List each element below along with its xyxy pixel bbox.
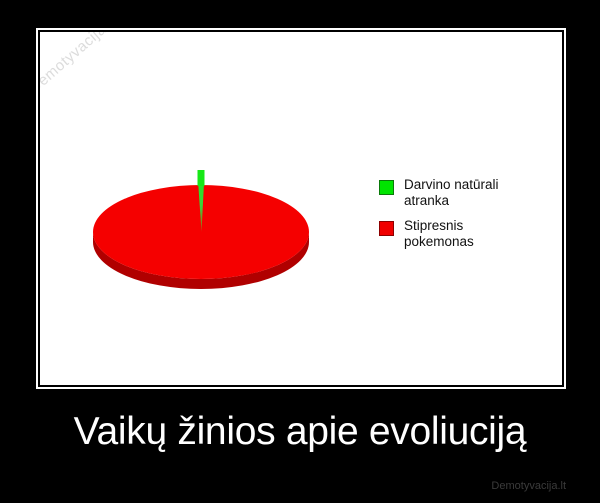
pie-slice-green-cap: [198, 170, 205, 186]
site-credit: Demotyvacija.lt: [491, 480, 566, 492]
pie-chart: Darvino natūrali atranka Stipresnis poke…: [40, 32, 562, 385]
poster-caption: Vaikų žinios apie evoliuciją: [0, 404, 600, 460]
chart-panel: Demotyvacija.lt Darvino natūrali atran: [40, 32, 562, 385]
legend-label-stipresnis: Stipresnis pokemonas: [404, 218, 474, 250]
legend-item-darvino[interactable]: Darvino natūrali atranka: [379, 177, 554, 209]
legend-swatch-red-icon: [379, 221, 394, 236]
pie-chart-svg: [70, 110, 400, 290]
legend-item-stipresnis[interactable]: Stipresnis pokemonas: [379, 218, 554, 250]
legend-label-darvino: Darvino natūrali atranka: [404, 177, 499, 209]
chart-legend: Darvino natūrali atranka Stipresnis poke…: [379, 177, 554, 259]
legend-swatch-green-icon: [379, 180, 394, 195]
